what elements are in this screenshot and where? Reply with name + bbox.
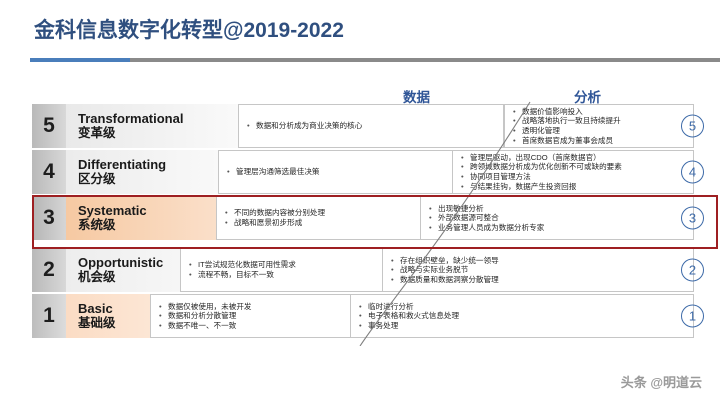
bullet-dot: • [391,265,400,275]
bullet-text: 存在组织壁垒，缺少统一领导 [400,256,499,266]
bullet-dot: • [461,182,470,192]
bullet-text: 外部数据源可整合 [438,213,499,223]
bullet-dot: • [189,270,198,280]
bullet-dot: • [247,121,256,131]
bullet-item: •管理层驱动，出现CDO（首席数据官） [461,153,689,163]
bullet-text: 出现敏捷分析 [438,204,484,214]
bullet-item: •与结果挂钩，数据产生投资回报 [461,182,689,192]
bullet-dot: • [359,321,368,331]
bullet-text: 电子表格和救火式信息处理 [368,311,459,321]
bullet-text: 管理层驱动，出现CDO（首席数据官） [470,153,601,163]
bullet-text: 数据和分析成为商业决策的核心 [256,121,362,131]
bullet-dot: • [225,208,234,218]
bullet-text: 不同的数据内容被分别处理 [234,208,325,218]
bullet-item: •电子表格和救火式信息处理 [359,311,689,321]
bullet-item: •数据不唯一、不一致 [159,321,377,331]
bullet-text: IT尝试规范化数据可用性需求 [198,260,296,270]
bullet-item: •数据和分析分散管理 [159,311,377,321]
bullet-text: 战略和愿景初步形成 [234,218,302,228]
page-title: 金科信息数字化转型@2019-2022 [34,14,344,44]
bullet-item: •业务管理人员成为数据分析专家 [429,223,689,233]
bullet-item: •数据仅被使用，未被开发 [159,302,377,312]
level-circle-badge-1: 1 [681,305,704,328]
bullet-item: •战略和愿景初步形成 [225,218,443,228]
level-label-4: Differentiating 区分级 [66,150,242,194]
bullet-item: •存在组织壁垒，缺少统一领导 [391,256,689,266]
level-label-en-5: Transformational [78,111,242,126]
bullet-text: 首席数据官成为董事会成员 [522,136,613,146]
bullet-text: 事务处理 [368,321,398,331]
bullet-dot: • [461,153,470,163]
bullet-item: •出现敏捷分析 [429,204,689,214]
bullet-dot: • [429,204,438,214]
analysis-box-3: •出现敏捷分析 •外部数据源可整合 •业务管理人员成为数据分析专家 [420,196,694,240]
bullet-text: 临时进行分析 [368,302,414,312]
maturity-row-5: 5 Transformational 变革级 •数据和分析成为商业决策的核心 •… [32,104,708,148]
data-box-4: •管理层沟通筛选最佳决策 [218,150,478,194]
bullet-item: •协同项目管理方法 [461,172,689,182]
bullet-dot: • [513,136,522,146]
bullet-item: •不同的数据内容被分别处理 [225,208,443,218]
bullet-text: 管理层沟通筛选最佳决策 [236,167,320,177]
bullet-text: 数据价值影响投入 [522,107,583,117]
bullet-dot: • [159,302,168,312]
data-box-5: •数据和分析成为商业决策的核心 [238,104,504,148]
data-box-3: •不同的数据内容被分别处理 •战略和愿景初步形成 [216,196,448,240]
title-divider-rule [30,58,720,62]
data-box-1: •数据仅被使用，未被开发 •数据和分析分散管理 •数据不唯一、不一致 [150,294,382,338]
analysis-box-4: •管理层驱动，出现CDO（首席数据官） •跨领域数据分析成为优化创新不可或缺的要… [452,150,694,194]
bullet-text: 数据和分析分散管理 [168,311,236,321]
level-circle-badge-4: 4 [681,161,704,184]
bullet-dot: • [227,167,236,177]
bullet-dot: • [189,260,198,270]
bullet-text: 透明化管理 [522,126,560,136]
bullet-item: •数据价值影响投入 [513,107,689,117]
level-circle-badge-5: 5 [681,115,704,138]
bullet-dot: • [391,256,400,266]
bullet-dot: • [429,223,438,233]
bullet-item: •数据和分析成为商业决策的核心 [247,121,499,131]
bullet-item: •临时进行分析 [359,302,689,312]
bullet-text: 战略落地执行一致且持续提升 [522,116,621,126]
analysis-box-2: •存在组织壁垒，缺少统一领导 •战略与实际业务脱节 •数据质量和数据洞察分散管理 [382,248,694,292]
bullet-item: •透明化管理 [513,126,689,136]
bullet-item: •管理层沟通筛选最佳决策 [227,167,473,177]
maturity-row-1: 1 Basic 基础级 •数据仅被使用，未被开发 •数据和分析分散管理 •数据不… [32,294,708,338]
bullet-dot: • [429,213,438,223]
level-number-4: 4 [32,150,66,194]
bullet-dot: • [359,311,368,321]
bullet-item: •事务处理 [359,321,689,331]
bullet-text: 数据仅被使用，未被开发 [168,302,252,312]
bullet-text: 跨领域数据分析成为优化创新不可或缺的要素 [470,162,622,172]
bullet-dot: • [391,275,400,285]
maturity-row-2: 2 Opportunistic 机会级 •IT尝试规范化数据可用性需求 •流程不… [32,248,708,292]
level-label-zh-5: 变革级 [78,126,242,141]
level-circle-badge-3: 3 [681,207,704,230]
bullet-text: 流程不畅，目标不一致 [198,270,274,280]
bullet-dot: • [461,172,470,182]
bullet-dot: • [359,302,368,312]
analysis-box-1: •临时进行分析 •电子表格和救火式信息处理 •事务处理 [350,294,694,338]
bullet-item: •首席数据官成为董事会成员 [513,136,689,146]
maturity-row-3: 3 Systematic 系统级 •不同的数据内容被分别处理 •战略和愿景初步形… [32,196,708,240]
column-header-analysis: 分析 [574,86,601,106]
column-header-data: 数据 [403,86,430,106]
bullet-item: •战略落地执行一致且持续提升 [513,116,689,126]
level-circle-badge-2: 2 [681,259,704,282]
analysis-box-5: •数据价值影响投入 •战略落地执行一致且持续提升 •透明化管理 •首席数据官成为… [504,104,694,148]
bullet-text: 协同项目管理方法 [470,172,531,182]
bullet-dot: • [513,126,522,136]
level-number-1: 1 [32,294,66,338]
level-number-2: 2 [32,248,66,292]
level-label-5: Transformational 变革级 [66,104,242,148]
maturity-row-4: 4 Differentiating 区分级 •管理层沟通筛选最佳决策 •管理层驱… [32,150,708,194]
bullet-item: •外部数据源可整合 [429,213,689,223]
bullet-text: 战略与实际业务脱节 [400,265,468,275]
maturity-matrix: 5 Transformational 变革级 •数据和分析成为商业决策的核心 •… [32,104,708,342]
title-divider-accent [30,58,130,62]
bullet-dot: • [513,116,522,126]
bullet-dot: • [461,162,470,172]
bullet-item: •战略与实际业务脱节 [391,265,689,275]
bullet-text: 与结果挂钩，数据产生投资回报 [470,182,576,192]
bullet-item: •数据质量和数据洞察分散管理 [391,275,689,285]
bullet-dot: • [513,107,522,117]
bullet-text: 业务管理人员成为数据分析专家 [438,223,544,233]
bullet-text: 数据质量和数据洞察分散管理 [400,275,499,285]
bullet-dot: • [159,321,168,331]
watermark: 头条 @明道云 [621,372,702,391]
bullet-dot: • [159,311,168,321]
bullet-item: •跨领域数据分析成为优化创新不可或缺的要素 [461,162,689,172]
bullet-dot: • [225,218,234,228]
bullet-text: 数据不唯一、不一致 [168,321,236,331]
level-number-5: 5 [32,104,66,148]
level-number-3: 3 [32,196,66,240]
